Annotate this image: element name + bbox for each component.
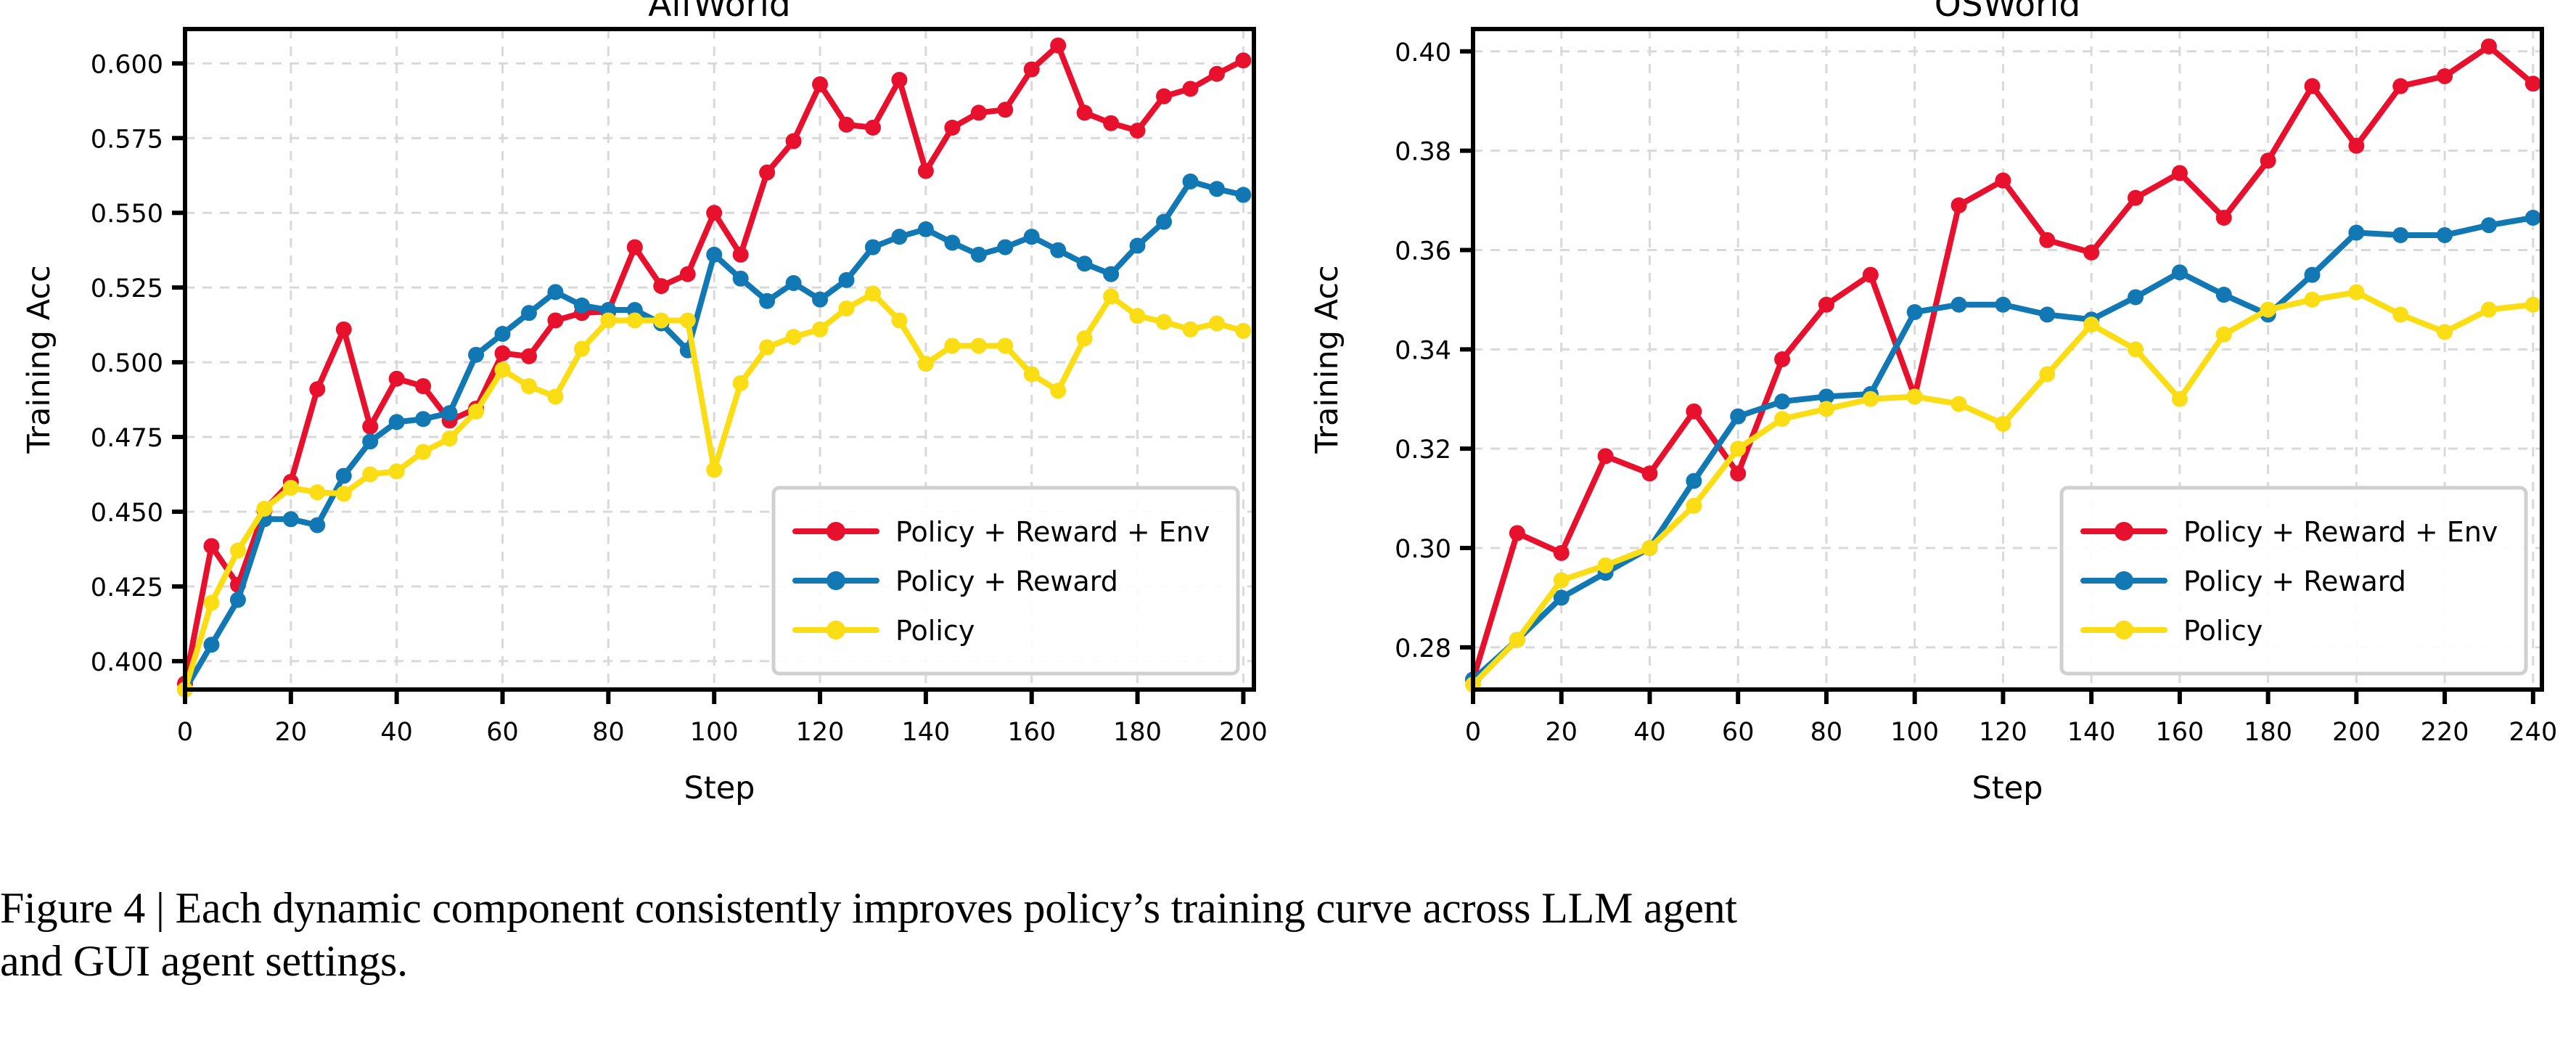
data-point-marker xyxy=(1995,297,2011,313)
x-tick-label: 60 xyxy=(1722,718,1755,747)
data-point-marker xyxy=(997,338,1013,353)
data-point-marker xyxy=(839,300,855,316)
legend-marker-icon xyxy=(826,621,845,639)
data-point-marker xyxy=(997,102,1013,118)
y-tick-label: 0.425 xyxy=(91,573,163,602)
y-tick-label: 0.575 xyxy=(91,125,163,154)
data-point-marker xyxy=(706,462,722,478)
plot-area: 0.4000.4250.4500.4750.5000.5250.5500.575… xyxy=(21,0,1268,806)
data-point-marker xyxy=(839,117,855,133)
data-point-marker xyxy=(1598,448,1614,464)
data-point-marker xyxy=(2392,227,2408,243)
data-point-marker xyxy=(1156,89,1172,105)
caption-line-2: and GUI agent settings. xyxy=(0,935,2540,988)
data-point-marker xyxy=(733,271,749,287)
data-point-marker xyxy=(1730,465,1746,481)
data-point-marker xyxy=(2392,78,2408,94)
data-point-marker xyxy=(891,72,907,88)
data-point-marker xyxy=(865,285,881,301)
data-point-marker xyxy=(2216,287,2232,303)
x-tick-label: 40 xyxy=(380,718,413,747)
data-point-marker xyxy=(1907,304,1923,320)
data-point-marker xyxy=(309,484,325,500)
data-point-marker xyxy=(944,120,960,136)
data-point-marker xyxy=(971,105,987,120)
data-point-marker xyxy=(309,518,325,533)
data-point-marker xyxy=(1103,115,1119,131)
data-point-marker xyxy=(680,266,696,282)
caption-line-1: Figure 4 | Each dynamic component consis… xyxy=(0,882,2540,935)
chart-osworld: 0.280.300.320.340.360.380.40020406080100… xyxy=(1288,0,2576,842)
plot-area: 0.280.300.320.340.360.380.40020406080100… xyxy=(1309,0,2557,806)
data-point-marker xyxy=(2481,217,2497,233)
legend-entry-label: Policy + Reward + Env xyxy=(895,516,1210,548)
data-point-marker xyxy=(1077,105,1093,120)
data-point-marker xyxy=(2348,285,2364,300)
data-point-marker xyxy=(786,275,802,291)
data-point-marker xyxy=(1130,123,1146,139)
data-point-marker xyxy=(2304,292,2320,308)
data-point-marker xyxy=(547,388,563,404)
data-point-marker xyxy=(1818,297,1834,313)
data-point-marker xyxy=(759,340,775,356)
data-point-marker xyxy=(309,381,325,397)
data-point-marker xyxy=(521,305,537,321)
data-point-marker xyxy=(918,163,934,179)
osworld-line-chart: 0.280.300.320.340.360.380.40020406080100… xyxy=(1288,0,2576,842)
data-point-marker xyxy=(2525,75,2541,91)
data-point-marker xyxy=(865,120,881,136)
data-point-marker xyxy=(1156,214,1172,230)
data-point-marker xyxy=(203,637,219,653)
data-point-marker xyxy=(1183,173,1199,189)
data-point-marker xyxy=(547,284,563,300)
y-tick-label: 0.400 xyxy=(91,648,163,677)
data-point-marker xyxy=(2216,210,2232,226)
y-tick-label: 0.40 xyxy=(1395,38,1451,68)
legend-marker-icon xyxy=(2114,621,2133,639)
data-point-marker xyxy=(256,501,272,517)
y-tick-label: 0.32 xyxy=(1395,435,1451,465)
x-tick-label: 100 xyxy=(690,718,739,747)
y-tick-label: 0.38 xyxy=(1395,138,1451,167)
data-point-marker xyxy=(283,511,299,527)
data-point-marker xyxy=(442,430,458,446)
data-point-marker xyxy=(1024,367,1040,383)
data-point-marker xyxy=(389,371,405,387)
data-point-marker xyxy=(1103,289,1119,305)
data-point-marker xyxy=(2216,327,2232,343)
x-tick-label: 80 xyxy=(1810,718,1843,747)
data-point-marker xyxy=(389,414,405,430)
x-tick-label: 240 xyxy=(2509,718,2557,747)
data-point-marker xyxy=(1050,242,1066,258)
data-point-marker xyxy=(1077,330,1093,346)
x-tick-label: 60 xyxy=(486,718,519,747)
y-tick-label: 0.28 xyxy=(1395,634,1451,663)
x-tick-label: 0 xyxy=(177,718,193,747)
y-tick-label: 0.34 xyxy=(1395,336,1451,365)
data-point-marker xyxy=(521,378,537,394)
x-tick-label: 180 xyxy=(2244,718,2292,747)
data-point-marker xyxy=(1686,473,1702,489)
data-point-marker xyxy=(1183,322,1199,338)
data-point-marker xyxy=(468,347,484,363)
data-point-marker xyxy=(1156,314,1172,330)
y-tick-label: 0.600 xyxy=(91,50,163,79)
data-point-marker xyxy=(786,329,802,345)
x-tick-label: 100 xyxy=(1890,718,1939,747)
data-point-marker xyxy=(918,221,934,237)
data-point-marker xyxy=(759,165,775,181)
x-tick-label: 200 xyxy=(1219,718,1268,747)
legend-marker-icon xyxy=(826,571,845,590)
data-point-marker xyxy=(336,322,352,338)
data-point-marker xyxy=(1907,388,1923,404)
alfworld-line-chart: 0.4000.4250.4500.4750.5000.5250.5500.575… xyxy=(0,0,1288,842)
data-point-marker xyxy=(1951,297,1967,313)
y-tick-label: 0.475 xyxy=(91,424,163,453)
x-tick-label: 80 xyxy=(592,718,625,747)
data-point-marker xyxy=(1774,393,1790,409)
data-point-marker xyxy=(2437,227,2453,243)
x-tick-label: 160 xyxy=(1007,718,1056,747)
data-point-marker xyxy=(1130,308,1146,324)
y-tick-label: 0.500 xyxy=(91,349,163,378)
data-point-marker xyxy=(2083,245,2099,261)
legend-marker-icon xyxy=(826,522,845,541)
legend-entry-label: Policy + Reward xyxy=(2183,565,2406,597)
data-point-marker xyxy=(495,361,511,377)
data-point-marker xyxy=(521,348,537,364)
data-point-marker xyxy=(1818,401,1834,417)
data-point-marker xyxy=(2348,138,2364,154)
data-point-marker xyxy=(1598,557,1614,573)
data-point-marker xyxy=(1183,81,1199,97)
data-point-marker xyxy=(944,338,960,353)
x-tick-label: 140 xyxy=(2067,718,2116,747)
x-tick-label: 0 xyxy=(1465,718,1481,747)
data-point-marker xyxy=(706,247,722,263)
data-point-marker xyxy=(1235,187,1251,203)
y-tick-label: 0.550 xyxy=(91,200,163,229)
data-point-marker xyxy=(1730,409,1746,425)
data-point-marker xyxy=(2260,152,2276,168)
data-point-marker xyxy=(2083,316,2099,332)
y-tick-label: 0.36 xyxy=(1395,237,1451,266)
legend-entry-label: Policy + Reward xyxy=(895,565,1118,597)
x-tick-label: 120 xyxy=(1979,718,2027,747)
legend-marker-icon xyxy=(2114,571,2133,590)
x-tick-label: 20 xyxy=(275,718,308,747)
plot-title: OSWorld xyxy=(1935,0,2081,25)
data-point-marker xyxy=(495,326,511,342)
legend-marker-icon xyxy=(2114,522,2133,541)
data-point-marker xyxy=(1024,229,1040,245)
y-axis-title: Training Acc xyxy=(1309,265,1345,454)
data-point-marker xyxy=(547,312,563,328)
data-point-marker xyxy=(839,272,855,288)
data-point-marker xyxy=(283,480,299,496)
data-point-marker xyxy=(2481,302,2497,318)
data-point-marker xyxy=(997,240,1013,255)
data-point-marker xyxy=(1509,525,1525,541)
data-point-marker xyxy=(203,595,219,611)
data-point-marker xyxy=(1641,540,1657,556)
y-tick-label: 0.525 xyxy=(91,274,163,303)
data-point-marker xyxy=(2172,391,2188,407)
x-tick-label: 40 xyxy=(1633,718,1666,747)
data-point-marker xyxy=(2128,289,2144,305)
legend-entry-label: Policy xyxy=(895,615,975,647)
data-point-marker xyxy=(336,486,352,502)
data-point-marker xyxy=(1995,416,2011,432)
data-point-marker xyxy=(362,419,378,435)
chart-alfworld: 0.4000.4250.4500.4750.5000.5250.5500.575… xyxy=(0,0,1288,842)
data-point-marker xyxy=(1554,572,1570,588)
x-tick-label: 160 xyxy=(2155,718,2204,747)
data-point-marker xyxy=(230,592,246,608)
data-point-marker xyxy=(812,76,828,92)
figure-caption: Figure 4 | Each dynamic component consis… xyxy=(0,882,2540,988)
data-point-marker xyxy=(2525,210,2541,226)
data-point-marker xyxy=(1686,404,1702,420)
data-point-marker xyxy=(1050,383,1066,398)
data-point-marker xyxy=(1951,396,1967,412)
data-point-marker xyxy=(2304,78,2320,94)
data-point-marker xyxy=(918,356,934,372)
x-axis-title: Step xyxy=(1972,770,2043,806)
data-point-marker xyxy=(415,411,431,427)
data-point-marker xyxy=(2260,302,2276,318)
data-point-marker xyxy=(680,312,696,328)
data-point-marker xyxy=(971,338,987,353)
data-point-marker xyxy=(1235,52,1251,68)
legend-entry-label: Policy xyxy=(2183,615,2263,647)
data-point-marker xyxy=(2172,264,2188,280)
legend-entry-label: Policy + Reward + Env xyxy=(2183,516,2498,548)
data-point-marker xyxy=(627,312,643,328)
data-point-marker xyxy=(468,404,484,420)
data-point-marker xyxy=(2039,232,2055,248)
data-point-marker xyxy=(1050,38,1066,54)
data-point-marker xyxy=(706,205,722,221)
data-point-marker xyxy=(944,234,960,250)
data-point-marker xyxy=(1995,173,2011,189)
data-point-marker xyxy=(574,298,590,314)
x-tick-label: 140 xyxy=(901,718,950,747)
data-point-marker xyxy=(1130,238,1146,254)
data-point-marker xyxy=(495,345,511,361)
chart-legend: Policy + Reward + EnvPolicy + RewardPoli… xyxy=(2062,488,2526,674)
x-tick-label: 180 xyxy=(1113,718,1162,747)
data-point-marker xyxy=(653,312,669,328)
data-point-marker xyxy=(786,133,802,149)
data-point-marker xyxy=(389,463,405,479)
data-point-marker xyxy=(891,229,907,245)
data-point-marker xyxy=(2304,267,2320,283)
x-tick-label: 220 xyxy=(2421,718,2469,747)
data-point-marker xyxy=(2128,190,2144,206)
chart-legend: Policy + Reward + EnvPolicy + RewardPoli… xyxy=(774,488,1238,674)
y-axis-title: Training Acc xyxy=(21,265,57,454)
data-point-marker xyxy=(415,444,431,460)
data-point-marker xyxy=(812,292,828,308)
data-point-marker xyxy=(2039,306,2055,322)
data-point-marker xyxy=(415,378,431,394)
data-point-marker xyxy=(362,433,378,449)
data-point-marker xyxy=(733,247,749,263)
data-point-marker xyxy=(1209,181,1225,197)
data-point-marker xyxy=(1209,66,1225,82)
data-point-marker xyxy=(2481,38,2497,54)
data-point-marker xyxy=(574,341,590,357)
x-tick-label: 200 xyxy=(2332,718,2381,747)
data-point-marker xyxy=(362,467,378,483)
data-point-marker xyxy=(2437,68,2453,84)
data-point-marker xyxy=(600,312,616,328)
data-point-marker xyxy=(203,538,219,554)
data-point-marker xyxy=(653,278,669,294)
figure-container: 0.4000.4250.4500.4750.5000.5250.5500.575… xyxy=(0,0,2576,1051)
data-point-marker xyxy=(627,240,643,255)
data-point-marker xyxy=(812,322,828,338)
data-point-marker xyxy=(759,293,775,309)
data-point-marker xyxy=(2437,324,2453,340)
data-point-marker xyxy=(1554,545,1570,561)
data-point-marker xyxy=(733,375,749,391)
data-point-marker xyxy=(865,240,881,255)
data-point-marker xyxy=(1235,323,1251,339)
data-point-marker xyxy=(2348,225,2364,241)
data-point-marker xyxy=(1209,316,1225,332)
data-point-marker xyxy=(1774,351,1790,367)
data-point-marker xyxy=(230,543,246,559)
x-axis-title: Step xyxy=(684,770,755,806)
data-point-marker xyxy=(2525,297,2541,313)
data-point-marker xyxy=(971,247,987,263)
y-tick-label: 0.450 xyxy=(91,499,163,528)
plot-title: AlfWorld xyxy=(648,0,790,25)
x-tick-label: 120 xyxy=(796,718,845,747)
data-point-marker xyxy=(1951,197,1967,213)
data-point-marker xyxy=(1641,465,1657,481)
data-point-marker xyxy=(1863,391,1879,407)
y-tick-label: 0.30 xyxy=(1395,535,1451,564)
data-point-marker xyxy=(1509,632,1525,648)
charts-row: 0.4000.4250.4500.4750.5000.5250.5500.575… xyxy=(0,0,2576,842)
data-point-marker xyxy=(1730,441,1746,457)
data-point-marker xyxy=(2392,306,2408,322)
data-point-marker xyxy=(2172,165,2188,181)
data-point-marker xyxy=(891,312,907,328)
data-point-marker xyxy=(1774,411,1790,427)
data-point-marker xyxy=(1103,266,1119,282)
data-point-marker xyxy=(1686,498,1702,514)
data-point-marker xyxy=(2128,341,2144,357)
data-point-marker xyxy=(1863,267,1879,283)
x-tick-label: 20 xyxy=(1545,718,1578,747)
data-point-marker xyxy=(336,468,352,484)
data-point-marker xyxy=(1077,255,1093,271)
data-point-marker xyxy=(2039,367,2055,383)
data-point-marker xyxy=(1024,62,1040,78)
data-point-marker xyxy=(442,405,458,421)
